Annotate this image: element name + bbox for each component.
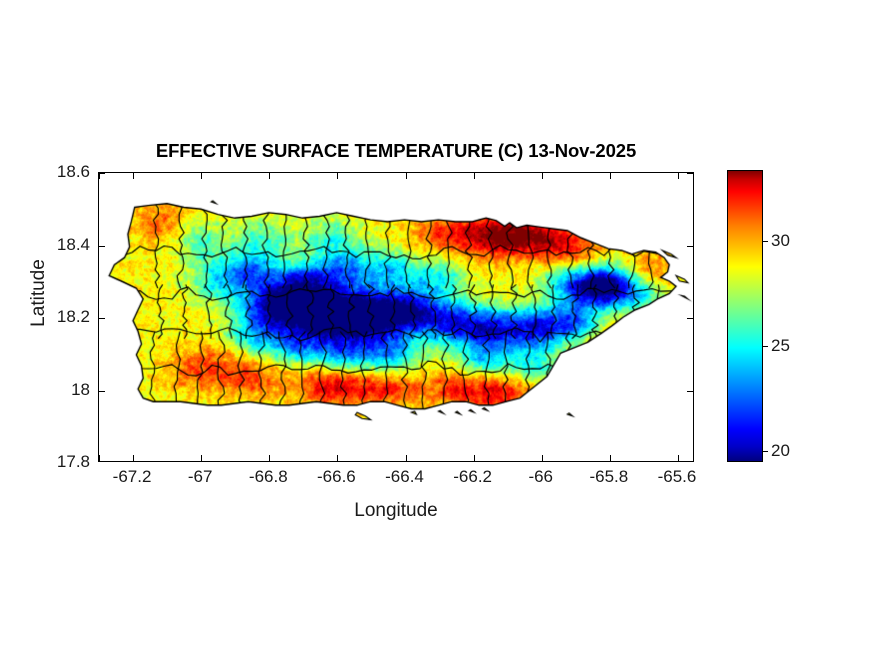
colorbar-gradient <box>727 170 763 462</box>
axis-tick-y <box>687 391 693 392</box>
x-tick-label: -67 <box>188 467 213 487</box>
colorbar-tick <box>763 241 768 242</box>
axis-tick-x <box>610 455 611 461</box>
colorbar-tick-label: 25 <box>771 336 790 356</box>
x-tick-label: -66.6 <box>317 467 356 487</box>
axis-tick-y <box>687 318 693 319</box>
x-tick-label: -66.4 <box>385 467 424 487</box>
x-tick-label: -67.2 <box>113 467 152 487</box>
map-axes <box>98 172 694 462</box>
axis-tick-x <box>133 455 134 461</box>
axis-tick-x <box>474 455 475 461</box>
colorbar: 302520 <box>727 170 763 462</box>
axis-tick-x <box>269 173 270 179</box>
y-axis-label: Latitude <box>28 233 50 353</box>
matlab-figure: EFFECTIVE SURFACE TEMPERATURE (C) 13-Nov… <box>0 0 875 656</box>
axis-tick-x <box>542 173 543 179</box>
axis-tick-x <box>133 173 134 179</box>
colorbar-tick-label: 30 <box>771 231 790 251</box>
x-tick-label: -66.2 <box>453 467 492 487</box>
colorbar-tick <box>763 346 768 347</box>
colorbar-tick <box>763 451 768 452</box>
y-tick-label: 18.6 <box>57 162 90 182</box>
axis-tick-x <box>99 455 100 461</box>
axis-tick-y <box>99 391 105 392</box>
page-title: EFFECTIVE SURFACE TEMPERATURE (C) 13-Nov… <box>98 140 694 162</box>
x-tick-label: -65.8 <box>589 467 628 487</box>
axis-tick-y <box>99 173 105 174</box>
colorbar-tick-label: 20 <box>771 441 790 461</box>
axis-tick-x <box>201 455 202 461</box>
axis-tick-x <box>269 455 270 461</box>
x-tick-label: -66.8 <box>249 467 288 487</box>
y-tick-label: 18.2 <box>57 307 90 327</box>
axis-tick-x <box>678 455 679 461</box>
y-tick-label: 18 <box>71 380 90 400</box>
axis-tick-x <box>678 173 679 179</box>
axis-tick-y <box>687 246 693 247</box>
y-tick-label: 18.4 <box>57 235 90 255</box>
axis-tick-x <box>610 173 611 179</box>
axis-tick-x <box>542 455 543 461</box>
x-tick-label: -65.6 <box>658 467 697 487</box>
axis-tick-x <box>406 173 407 179</box>
axis-tick-y <box>687 173 693 174</box>
x-axis-label: Longitude <box>98 500 694 522</box>
axis-tick-x <box>337 455 338 461</box>
axis-tick-x <box>406 455 407 461</box>
axis-tick-y <box>99 246 105 247</box>
axis-tick-x <box>201 173 202 179</box>
temperature-heatmap-canvas <box>99 173 693 461</box>
axis-tick-x <box>337 173 338 179</box>
y-tick-label: 17.8 <box>57 452 90 472</box>
axis-tick-x <box>474 173 475 179</box>
x-tick-label: -66 <box>528 467 553 487</box>
axis-tick-y <box>99 318 105 319</box>
